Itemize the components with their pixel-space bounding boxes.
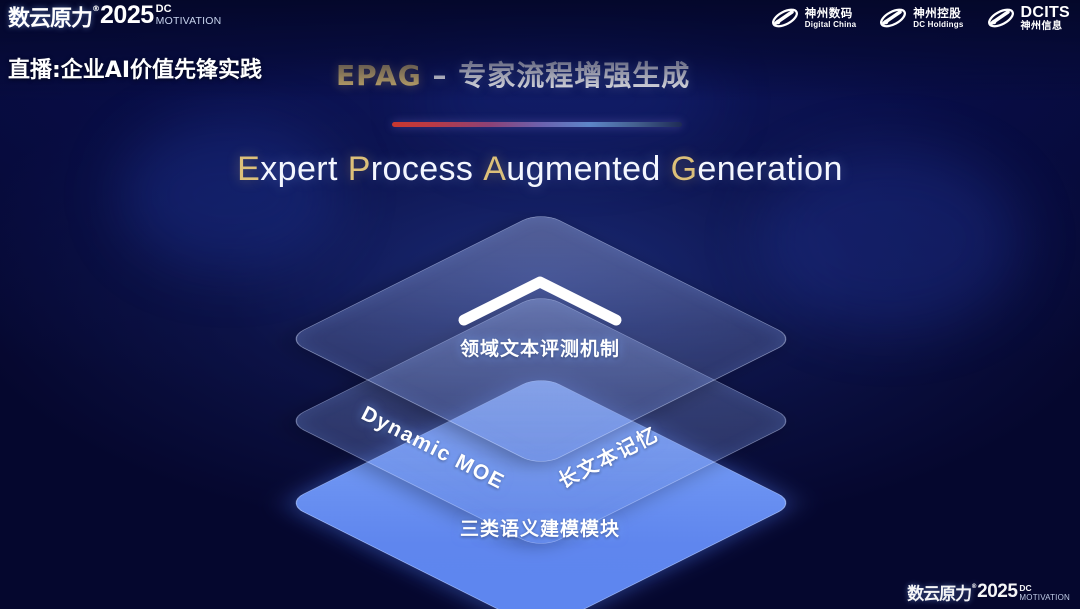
subtitle-cap-a: A xyxy=(483,150,506,188)
brand-dc-text: DC xyxy=(156,4,222,15)
subtitle-cap-g: G xyxy=(671,150,698,188)
partner-name-en: DC Holdings xyxy=(913,20,963,30)
subtitle-rest-augmented: ugmented xyxy=(506,150,660,188)
subtitle-rest-generation: eneration xyxy=(697,150,842,188)
diagram-label-top: 领域文本评测机制 xyxy=(290,334,790,361)
partner-name-en: DCITS xyxy=(1021,4,1071,21)
subtitle-cap-e: E xyxy=(237,150,260,188)
partner-name-en: Digital China xyxy=(805,20,857,30)
watermark-dc-text: DC xyxy=(1019,584,1070,593)
subtitle-space-1 xyxy=(338,150,348,188)
partner-label-digital-china: 神州数码 Digital China xyxy=(805,7,857,30)
partner-label-dcits: DCITS 神州信息 xyxy=(1021,4,1071,32)
subtitle-cap-p: P xyxy=(348,150,371,188)
swoosh-logo-icon xyxy=(986,5,1016,31)
brand-year: 2025 xyxy=(100,2,154,28)
partner-logo-dcits: DCITS 神州信息 xyxy=(986,4,1071,32)
brand-name-cn: 数云原力® xyxy=(8,2,99,32)
partner-label-dc-holdings: 神州控股 DC Holdings xyxy=(913,7,963,30)
partner-logo-dc-holdings: 神州控股 DC Holdings xyxy=(878,5,963,31)
registered-mark: ® xyxy=(92,4,99,13)
partner-name-cn: 神州信息 xyxy=(1021,21,1071,32)
watermark-year: 2025 xyxy=(977,582,1017,602)
live-broadcast-title: 直播:企业AI价值先锋实践 xyxy=(8,52,262,84)
page-subtitle: Expert Process Augmented Generation xyxy=(0,150,1080,189)
watermark-motivation-text: MOTIVATION xyxy=(1019,593,1070,603)
brand-watermark-bottom-right: 数云原力® 2025 DC MOTIVATION xyxy=(907,582,1070,605)
watermark-dc-motivation: DC MOTIVATION xyxy=(1019,582,1070,602)
subtitle-rest-expert: xpert xyxy=(260,150,338,188)
partner-name-cn: 神州控股 xyxy=(913,7,963,20)
partner-logos: 神州数码 Digital China 神州控股 DC Holdings xyxy=(770,4,1070,32)
watermark-name-cn: 数云原力® xyxy=(907,582,976,605)
diagram-label-bottom: 三类语义建模模块 xyxy=(290,514,790,541)
slide-canvas: 数云原力® 2025 DC MOTIVATION 直播:企业AI价值先锋实践 神… xyxy=(0,0,1080,609)
brand-motivation-text: MOTIVATION xyxy=(156,15,222,27)
chevron-up-icon xyxy=(454,272,626,330)
subtitle-space-3 xyxy=(661,150,671,188)
swoosh-logo-icon xyxy=(770,5,800,31)
title-divider xyxy=(392,122,682,127)
swoosh-logo-icon xyxy=(878,5,908,31)
subtitle-rest-process: rocess xyxy=(371,150,474,188)
partner-name-cn: 神州数码 xyxy=(805,7,857,20)
layered-architecture-diagram: 领域文本评测机制 Dynamic MOE 长文本记忆 三类语义建模模块 xyxy=(290,230,790,570)
brand-dc-motivation: DC MOTIVATION xyxy=(156,2,222,27)
subtitle-space-2 xyxy=(473,150,483,188)
partner-logo-digital-china: 神州数码 Digital China xyxy=(770,5,857,31)
brand-logo-top-left: 数云原力® 2025 DC MOTIVATION xyxy=(8,2,221,32)
registered-mark: ® xyxy=(971,583,976,590)
